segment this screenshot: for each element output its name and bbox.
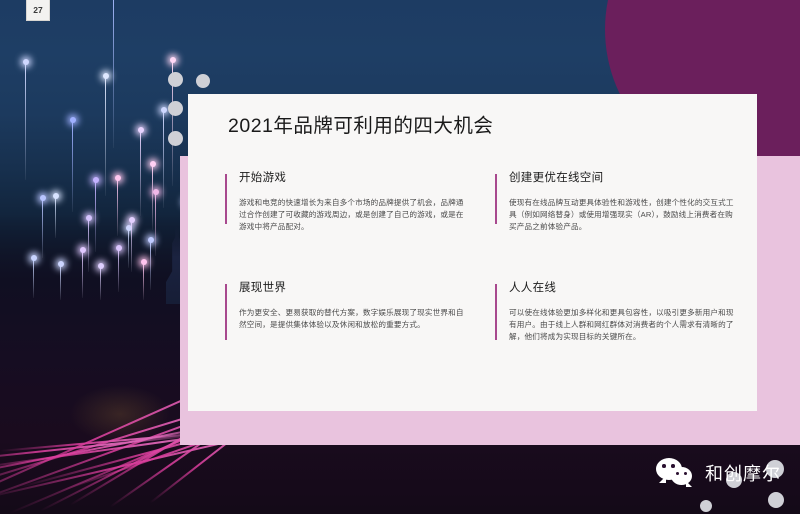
wechat-icon	[656, 458, 696, 488]
opportunity-body: 使现有在线品牌互动更具体验性和游戏性，创建个性化的交互式工具（例如网络替身）或使…	[509, 197, 739, 234]
opportunity-heading: 创建更优在线空间	[509, 172, 739, 186]
opportunity-heading: 展现世界	[239, 282, 469, 296]
accent-bar	[225, 284, 227, 340]
page-title: 2021年品牌可利用的四大机会	[228, 109, 493, 138]
page-number-badge: 27	[26, 0, 50, 21]
opportunity-body: 游戏和电竞的快速增长为来自多个市场的品牌提供了机会，品牌通过合作创建了可收藏的游…	[239, 197, 469, 234]
opportunity-item-4: 人人在线 可以使在线体验更加多样化和更具包容性，以吸引更多新用户和现有用户。由于…	[495, 282, 739, 344]
opportunity-item-2: 创建更优在线空间 使现有在线品牌互动更具体验性和游戏性，创建个性化的交互式工具（…	[495, 172, 739, 234]
accent-bar	[495, 174, 497, 224]
opportunity-body: 可以使在线体验更加多样化和更具包容性，以吸引更多新用户和现有用户。由于线上人群和…	[509, 307, 739, 344]
opportunity-body: 作为更安全、更易获取的替代方案，数字娱乐展现了现实世界和自然空间，是提供集体体验…	[239, 307, 469, 332]
slide-content-card: 2021年品牌可利用的四大机会 开始游戏 游戏和电竞的快速增长为来自多个市场的品…	[188, 94, 757, 411]
opportunity-item-1: 开始游戏 游戏和电竞的快速增长为来自多个市场的品牌提供了机会，品牌通过合作创建了…	[225, 172, 469, 234]
page-number-label: 27	[33, 5, 42, 15]
opportunity-heading: 人人在线	[509, 282, 739, 296]
watermark-text: 和创摩尔	[705, 460, 781, 486]
opportunity-item-3: 展现世界 作为更安全、更易获取的替代方案，数字娱乐展现了现实世界和自然空间，是提…	[225, 282, 469, 331]
accent-bar	[225, 174, 227, 224]
watermark-logo: 和创摩尔	[656, 458, 781, 488]
accent-bar	[495, 284, 497, 340]
opportunity-heading: 开始游戏	[239, 172, 469, 186]
